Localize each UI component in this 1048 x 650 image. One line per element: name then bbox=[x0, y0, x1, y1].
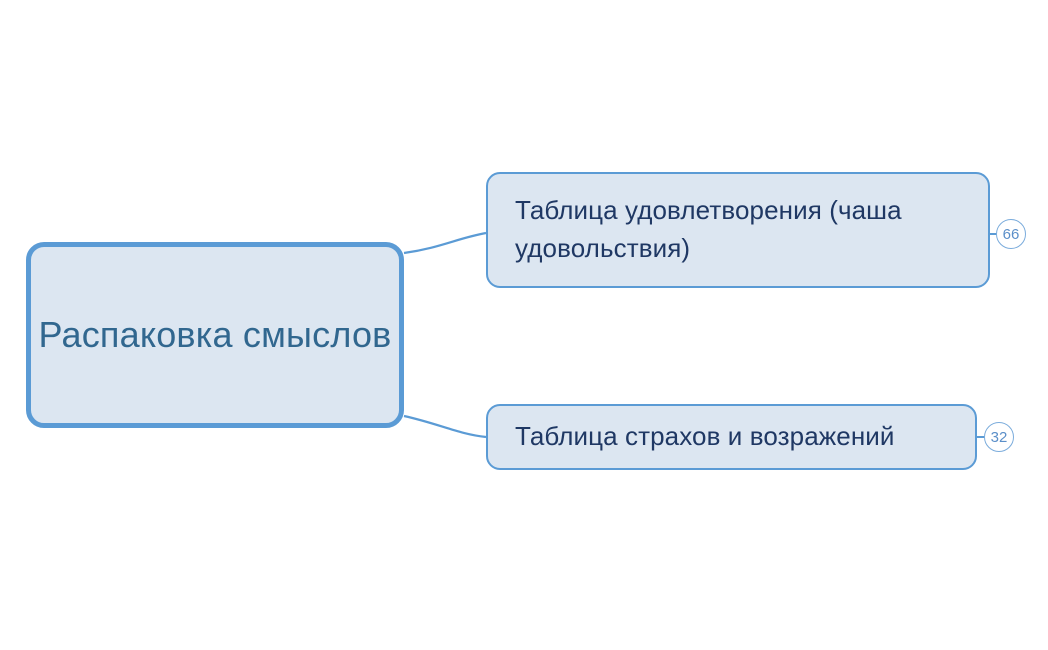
child-node-fears-table[interactable]: Таблица страхов и возражений bbox=[486, 404, 977, 470]
child-node-satisfaction-table[interactable]: Таблица удовлетворения (чаша удовольстви… bbox=[486, 172, 990, 288]
badge-count-fears[interactable]: 32 bbox=[984, 422, 1014, 452]
root-node-label: Распаковка смыслов bbox=[31, 309, 399, 360]
root-node[interactable]: Распаковка смыслов bbox=[26, 242, 404, 428]
mindmap-canvas: Распаковка смыслов Таблица удовлетворени… bbox=[0, 0, 1048, 650]
badge-count-satisfaction[interactable]: 66 bbox=[996, 219, 1026, 249]
child-node-label: Таблица страхов и возражений bbox=[488, 418, 975, 456]
child-node-label: Таблица удовлетворения (чаша удовольстви… bbox=[488, 192, 988, 267]
connector-root-to-child-1 bbox=[404, 233, 486, 253]
connector-root-to-child-2 bbox=[404, 416, 486, 437]
